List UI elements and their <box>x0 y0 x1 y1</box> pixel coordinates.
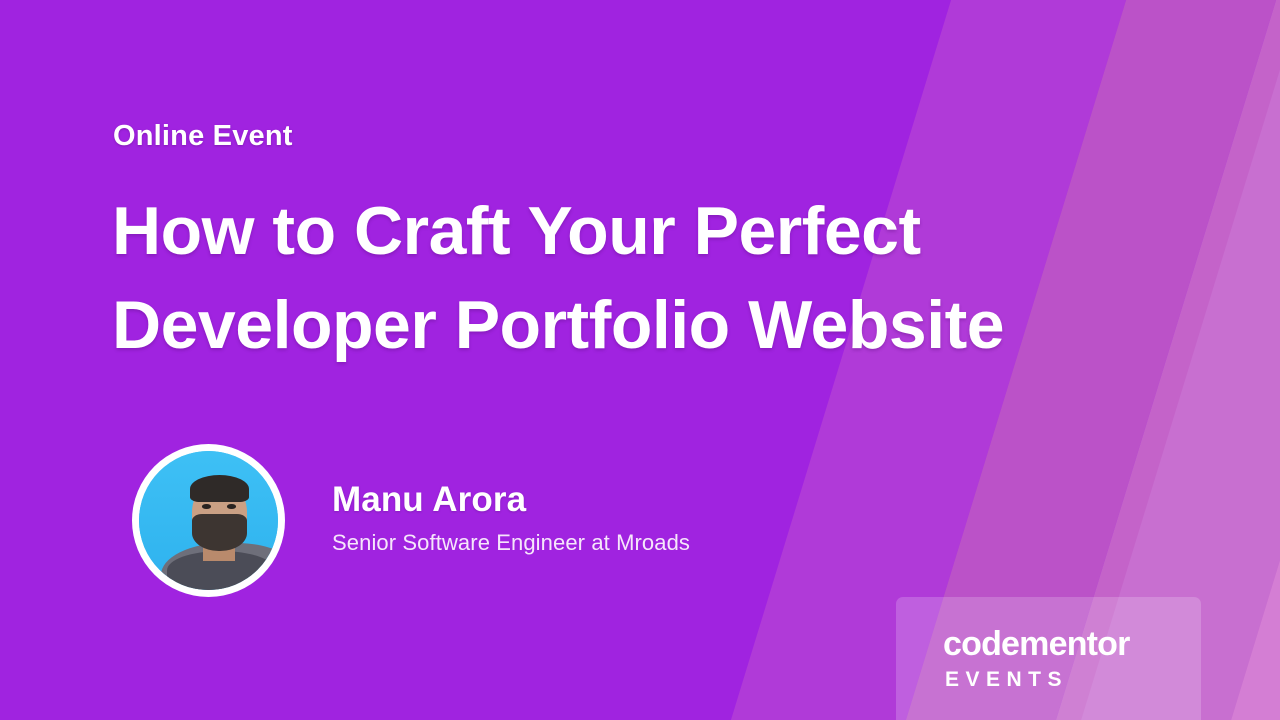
avatar-eye-right <box>227 504 237 509</box>
avatar <box>132 444 285 597</box>
page-title: How to Craft Your Perfect Developer Port… <box>112 184 1092 372</box>
speaker-details: Manu Arora Senior Software Engineer at M… <box>332 479 690 563</box>
brand-wordmark: codementor <box>943 625 1130 664</box>
speaker-name: Manu Arora <box>332 479 690 521</box>
avatar-beard <box>192 514 248 552</box>
event-promo-slide: Online Event How to Craft Your Perfect D… <box>0 0 1280 720</box>
brand-logo-plate: codementor EVENTS <box>896 597 1201 720</box>
brand-sub-label: EVENTS <box>945 668 1068 692</box>
avatar-photo <box>139 451 278 590</box>
page-title-line-2: Developer Portfolio Website <box>112 278 1092 372</box>
page-title-line-1: How to Craft Your Perfect <box>112 184 1092 278</box>
speaker-block: Manu Arora Senior Software Engineer at M… <box>132 444 690 597</box>
speaker-role: Senior Software Engineer at Mroads <box>332 529 690 557</box>
event-type-label: Online Event <box>113 120 293 153</box>
avatar-eye-left <box>202 504 212 509</box>
avatar-hair <box>190 475 248 503</box>
